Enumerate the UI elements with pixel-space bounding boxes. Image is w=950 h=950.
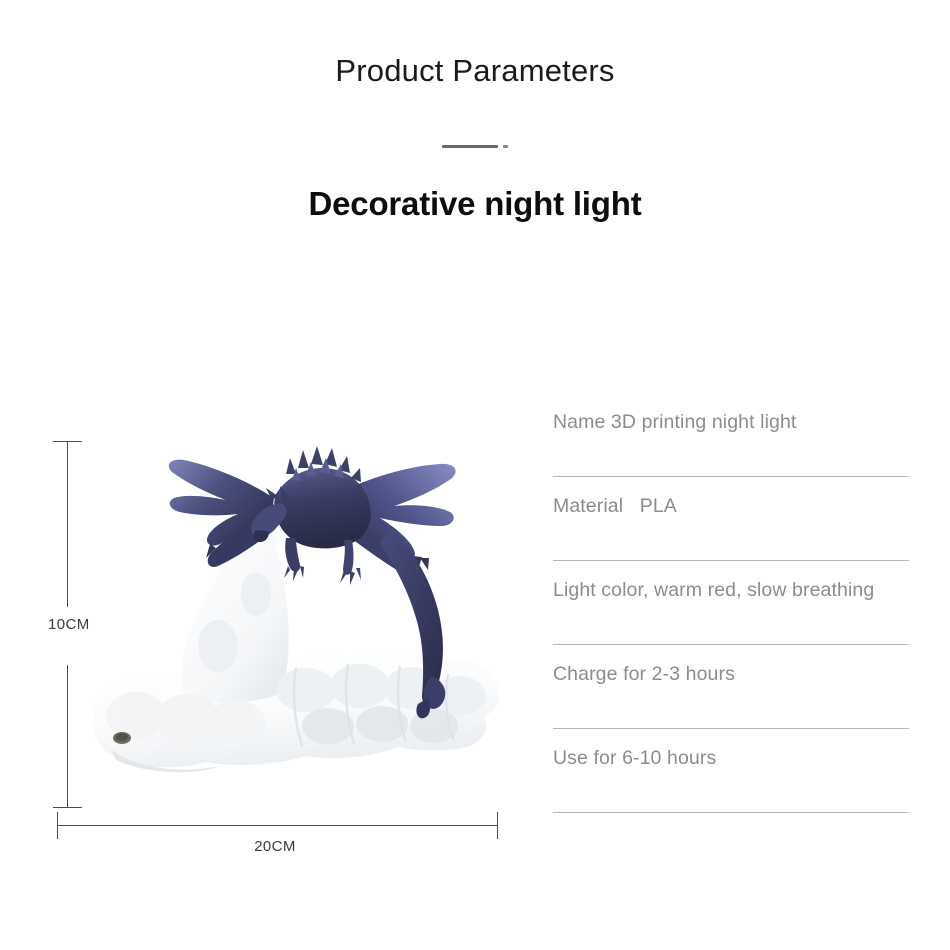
title-divider-dot xyxy=(503,145,508,148)
spec-text-material: Material PLA xyxy=(553,477,677,517)
page-subtitle: Decorative night light xyxy=(0,184,950,224)
width-dimension-line xyxy=(57,825,498,826)
spec-text-use-time: Use for 6-10 hours xyxy=(553,729,716,769)
spec-row-name: Name 3D printing night light xyxy=(553,393,909,477)
spec-row-light-color: Light color, warm red, slow breathing xyxy=(553,561,909,645)
spec-text-charge-time: Charge for 2-3 hours xyxy=(553,645,735,685)
spec-row-charge-time: Charge for 2-3 hours xyxy=(553,645,909,729)
spec-list: Name 3D printing night light Material PL… xyxy=(553,393,909,813)
width-dimension-label: 20CM xyxy=(20,838,530,855)
spec-text-light-color: Light color, warm red, slow breathing xyxy=(553,561,874,601)
charging-port-icon xyxy=(113,732,131,744)
page-title: Product Parameters xyxy=(0,54,950,88)
product-photo xyxy=(60,420,530,820)
title-divider xyxy=(0,143,950,149)
spec-text-name: Name 3D printing night light xyxy=(553,393,796,433)
spec-row-use-time: Use for 6-10 hours xyxy=(553,729,909,813)
spec-row-material: Material PLA xyxy=(553,477,909,561)
product-figure: 10CM 20CM xyxy=(20,420,530,870)
title-divider-rule xyxy=(442,145,498,148)
